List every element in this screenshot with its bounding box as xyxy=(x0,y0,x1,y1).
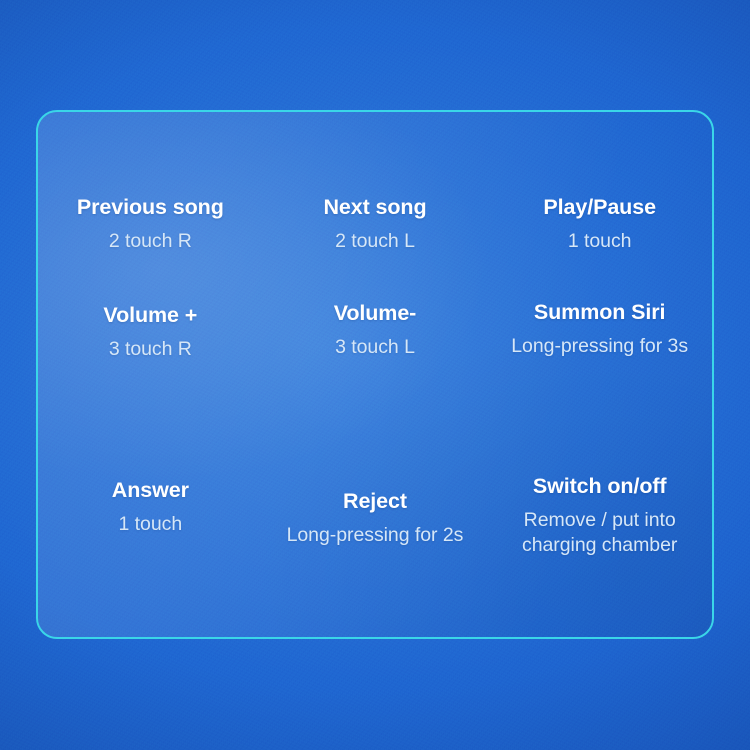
gesture-cell-reject: Reject Long-pressing for 2s xyxy=(263,453,488,639)
gesture-title: Play/Pause xyxy=(543,195,656,220)
gesture-cell-switch-on-off: Switch on/off Remove / put into charging… xyxy=(487,453,712,639)
gesture-cell-previous-song: Previous song 2 touch R xyxy=(38,112,263,263)
gesture-title: Switch on/off xyxy=(533,474,667,499)
gesture-title: Next song xyxy=(323,195,426,220)
gesture-cell-answer: Answer 1 touch xyxy=(38,453,263,639)
gesture-subtitle: Long-pressing for 3s xyxy=(511,334,688,359)
gesture-subtitle: 2 touch L xyxy=(335,229,415,254)
gesture-cell-next-song: Next song 2 touch L xyxy=(263,112,488,263)
gesture-subtitle: 1 touch xyxy=(568,229,632,254)
gesture-subtitle: 2 touch R xyxy=(109,229,192,254)
gesture-cell-summon-siri: Summon Siri Long-pressing for 3s xyxy=(487,263,712,453)
gesture-cell-volume-up: Volume + 3 touch R xyxy=(38,263,263,453)
gesture-subtitle: Long-pressing for 2s xyxy=(287,523,464,548)
gesture-cell-volume-down: Volume- 3 touch L xyxy=(263,263,488,453)
gesture-subtitle: 3 touch R xyxy=(109,337,192,362)
gesture-title: Volume + xyxy=(103,303,197,328)
gesture-subtitle: 1 touch xyxy=(119,512,183,537)
gesture-title: Reject xyxy=(343,489,407,514)
gesture-subtitle: Remove / put into charging chamber xyxy=(495,508,704,559)
gesture-title: Summon Siri xyxy=(534,300,666,325)
gesture-title: Volume- xyxy=(334,301,417,326)
touch-control-guide-card: Previous song 2 touch R Next song 2 touc… xyxy=(36,110,714,639)
gesture-grid: Previous song 2 touch R Next song 2 touc… xyxy=(38,112,712,637)
gesture-cell-play-pause: Play/Pause 1 touch xyxy=(487,112,712,263)
gesture-title: Answer xyxy=(112,478,189,503)
gesture-subtitle: 3 touch L xyxy=(335,335,415,360)
gesture-title: Previous song xyxy=(77,195,224,220)
